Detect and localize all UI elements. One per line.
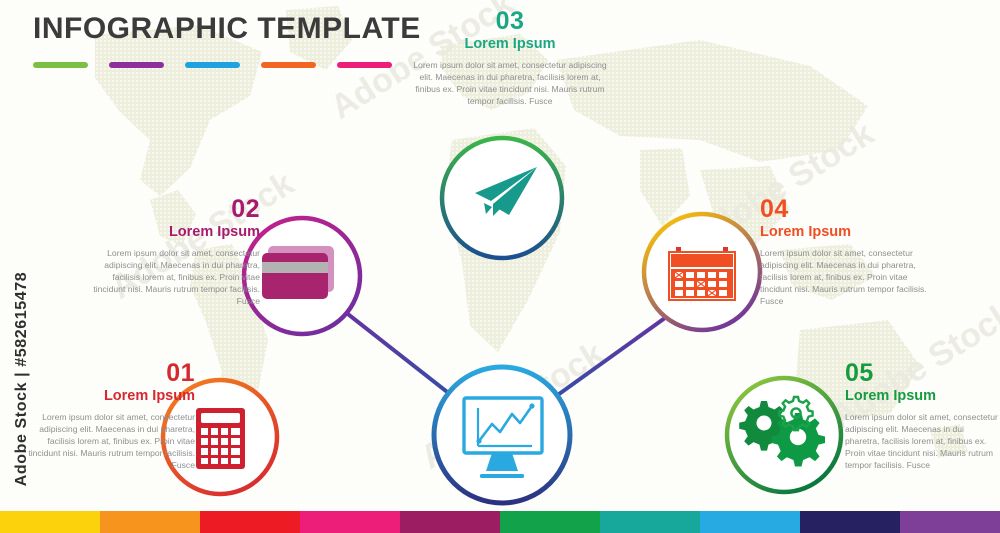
bar-swatch-teal bbox=[600, 511, 700, 533]
step-heading-03: Lorem Ipsum bbox=[410, 36, 610, 53]
node-03[interactable] bbox=[442, 138, 562, 258]
bar-swatch-navy bbox=[800, 511, 900, 533]
step-heading-04: Lorem Ipsum bbox=[760, 224, 940, 241]
stock-watermark-label: Adobe Stock | #582615478 bbox=[13, 259, 31, 499]
step-body-03: Lorem ipsum dolor sit amet, consectetur … bbox=[410, 59, 610, 108]
step-body-04: Lorem ipsum dolor sit amet, consectetur … bbox=[760, 247, 940, 308]
dash-orange bbox=[261, 62, 316, 68]
bar-swatch-red bbox=[200, 511, 300, 533]
bar-swatch-pink bbox=[300, 511, 400, 533]
bar-swatch-green bbox=[500, 511, 600, 533]
bottom-color-bar bbox=[0, 511, 1000, 533]
step-text-block-04: 04 Lorem Ipsum Lorem ipsum dolor sit ame… bbox=[760, 196, 940, 308]
bar-swatch-magenta bbox=[400, 511, 500, 533]
step-number-05: 05 bbox=[845, 360, 1000, 386]
dash-pink bbox=[337, 62, 392, 68]
step-body-02: Lorem ipsum dolor sit amet, consectetur … bbox=[80, 247, 260, 308]
monitor-base-icon bbox=[480, 474, 524, 478]
dash-green bbox=[33, 62, 88, 68]
bar-swatch-blue bbox=[700, 511, 800, 533]
bar-swatch-orange bbox=[100, 511, 200, 533]
calendar-icon bbox=[669, 247, 735, 300]
node-center[interactable] bbox=[434, 367, 570, 503]
title-dash-row bbox=[33, 62, 392, 68]
step-text-block-03: 03 Lorem Ipsum Lorem ipsum dolor sit ame… bbox=[410, 8, 610, 107]
bar-swatch-purple bbox=[900, 511, 1000, 533]
page-title: INFOGRAPHIC TEMPLATE bbox=[33, 12, 421, 46]
step-heading-05: Lorem Ipsum bbox=[845, 388, 1000, 405]
step-text-block-02: 02 Lorem Ipsum Lorem ipsum dolor sit ame… bbox=[80, 196, 260, 308]
calculator-icon bbox=[196, 408, 245, 469]
dash-purple bbox=[109, 62, 164, 68]
step-body-05: Lorem ipsum dolor sit amet, consectetur … bbox=[845, 411, 1000, 472]
step-body-01: Lorem ipsum dolor sit amet, consectetur … bbox=[15, 411, 195, 472]
node-04[interactable] bbox=[644, 214, 760, 330]
node-05[interactable] bbox=[727, 378, 841, 492]
step-text-block-01: 01 Lorem Ipsum Lorem ipsum dolor sit ame… bbox=[15, 360, 195, 472]
dash-blue bbox=[185, 62, 240, 68]
step-heading-02: Lorem Ipsum bbox=[80, 224, 260, 241]
infographic-canvas: Adobe Stock Adobe Stock Adobe Stock Adob… bbox=[0, 0, 1000, 533]
step-number-04: 04 bbox=[760, 196, 940, 222]
node-02[interactable] bbox=[244, 218, 360, 334]
step-number-02: 02 bbox=[80, 196, 260, 222]
step-number-03: 03 bbox=[410, 8, 610, 34]
step-heading-01: Lorem Ipsum bbox=[15, 388, 195, 405]
credit-card-icon bbox=[262, 246, 334, 299]
bar-swatch-yellow bbox=[0, 511, 100, 533]
step-number-01: 01 bbox=[15, 360, 195, 386]
step-text-block-05: 05 Lorem Ipsum Lorem ipsum dolor sit ame… bbox=[845, 360, 1000, 472]
node-center-ring[interactable] bbox=[434, 367, 570, 503]
